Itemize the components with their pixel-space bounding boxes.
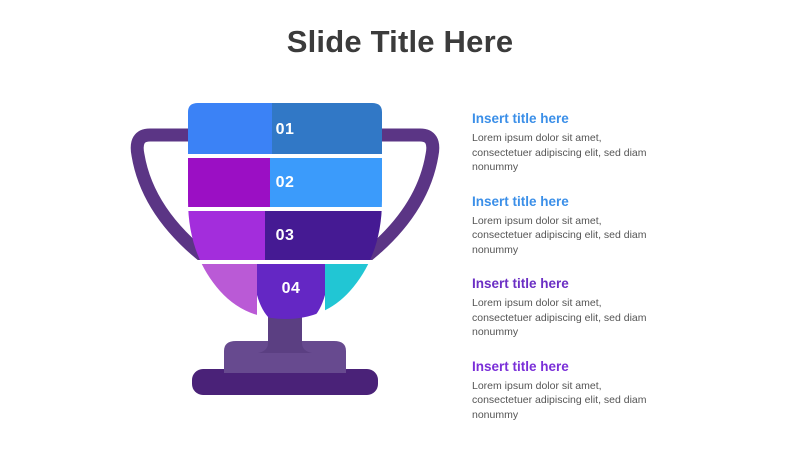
page-title: Slide Title Here bbox=[0, 22, 800, 62]
band-4-number: 04 bbox=[282, 280, 301, 297]
text-item-4-body: Lorem ipsum dolor sit amet, consectetuer… bbox=[472, 379, 662, 423]
text-item-2: Insert title here Lorem ipsum dolor sit … bbox=[472, 193, 672, 258]
band-4-right-segment bbox=[325, 261, 445, 331]
text-item-4: Insert title here Lorem ipsum dolor sit … bbox=[472, 358, 672, 423]
text-item-3-body: Lorem ipsum dolor sit amet, consectetuer… bbox=[472, 296, 662, 340]
text-item-1-title: Insert title here bbox=[472, 110, 672, 128]
trophy-band-4 bbox=[160, 261, 445, 331]
text-item-4-title: Insert title here bbox=[472, 358, 672, 376]
text-item-2-title: Insert title here bbox=[472, 193, 672, 211]
text-item-3-title: Insert title here bbox=[472, 275, 672, 293]
band-2-number: 02 bbox=[276, 174, 295, 191]
band-3-number: 03 bbox=[276, 227, 295, 244]
text-item-3: Insert title here Lorem ipsum dolor sit … bbox=[472, 275, 672, 340]
band-1-number: 01 bbox=[276, 121, 295, 138]
text-item-1-body: Lorem ipsum dolor sit amet, consectetuer… bbox=[472, 131, 662, 175]
text-item-list: Insert title here Lorem ipsum dolor sit … bbox=[472, 110, 672, 422]
trophy-cup-diagram: 01 02 03 04 bbox=[120, 95, 450, 405]
text-item-2-body: Lorem ipsum dolor sit amet, consectetuer… bbox=[472, 214, 662, 258]
band-4-left-segment bbox=[160, 261, 257, 331]
text-item-1: Insert title here Lorem ipsum dolor sit … bbox=[472, 110, 672, 175]
band-2-left-segment bbox=[160, 155, 270, 213]
slide-canvas: Slide Title Here bbox=[0, 0, 800, 450]
